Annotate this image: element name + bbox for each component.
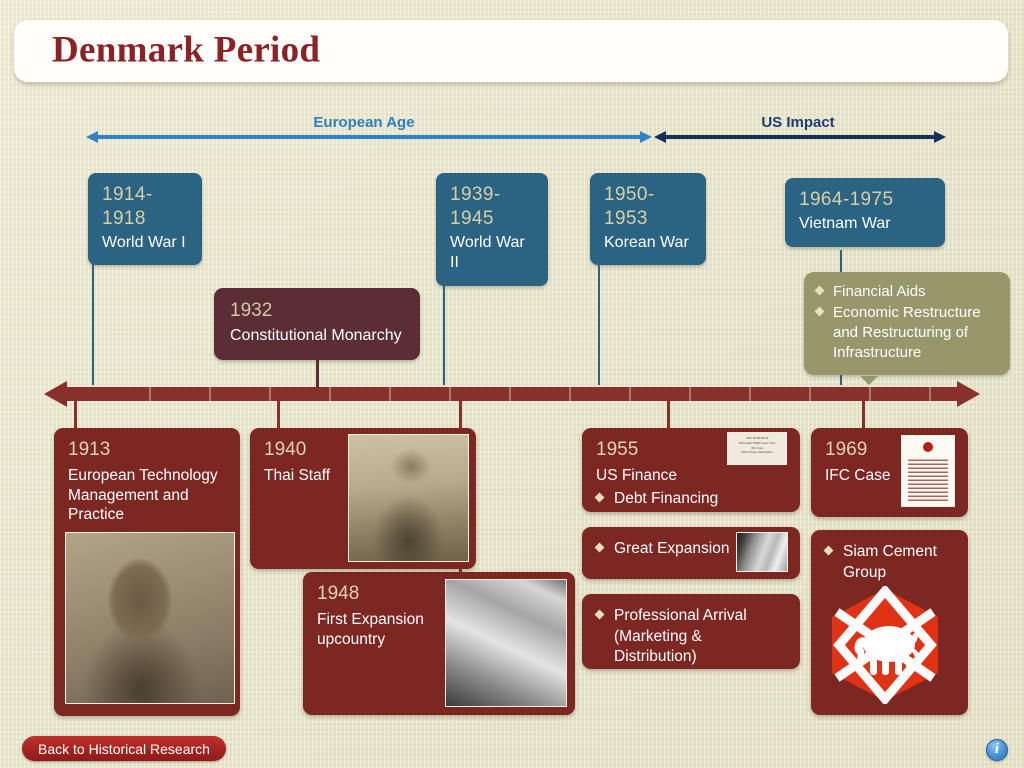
bullet-card-text-wrap: Professional Arrival (Marketing & Distri…: [596, 606, 786, 668]
connector-stem-1955: [667, 400, 670, 430]
bullet-card-siam-cement-group[interactable]: Siam Cement Group: [811, 530, 968, 715]
bullet-card-professional-arrival[interactable]: Professional Arrival (Marketing & Distri…: [582, 594, 800, 669]
info-icon[interactable]: i: [986, 739, 1008, 761]
timeline-tick: [569, 387, 571, 401]
connector-stem-world-war-i: [92, 255, 94, 385]
milestone-name: Constitutional Monarchy: [230, 326, 404, 347]
timeline-tick: [929, 387, 931, 401]
diamond-bullet-icon: [815, 286, 825, 296]
card-bullet: Debt Financing: [596, 489, 786, 509]
bullet-card-text-wrap: Siam Cement Group: [825, 542, 954, 583]
aid-box-us-impact-effects[interactable]: Financial Aids Economic Restructure and …: [804, 272, 1010, 375]
event-card-1969[interactable]: 1969 IFC Case: [811, 428, 968, 517]
photo-factory-1948: [445, 579, 567, 707]
card-name: US Finance: [596, 466, 786, 486]
connector-stem-world-war-ii: [443, 255, 445, 385]
timeline-tick: [389, 387, 391, 401]
arrow-head-right-icon: [640, 131, 652, 143]
diamond-bullet-icon: [595, 543, 605, 553]
era-label-us-impact: US Impact: [705, 114, 891, 131]
main-timeline-arrow: [44, 381, 980, 407]
milestone-box-constitutional-monarchy[interactable]: 1932 Constitutional Monarchy: [214, 288, 420, 360]
war-box-vietnam-war[interactable]: 1964-1975 Vietnam War: [785, 178, 945, 247]
diamond-bullet-icon: [824, 546, 834, 556]
connector-stem-korean-war: [598, 255, 600, 385]
arrow-head-right-icon: [957, 381, 980, 407]
timeline-tick: [809, 387, 811, 401]
diamond-bullet-icon: [595, 492, 605, 502]
photo-portrait-1913: [65, 532, 235, 704]
timeline-tick: [449, 387, 451, 401]
thumbnail-document-1969: [901, 435, 955, 507]
bullet-card-great-expansion[interactable]: Great Expansion: [582, 527, 800, 579]
page-title: Denmark Period: [52, 29, 320, 72]
finance-line: 20% Chase Manhattan: [730, 450, 784, 455]
photo-plant-aerial: [736, 532, 788, 572]
arrow-head-right-icon: [934, 131, 946, 143]
aid-item: Financial Aids: [816, 282, 998, 302]
red-seal-icon: [923, 442, 933, 452]
war-box-world-war-i[interactable]: 1914-1918 World War I: [88, 173, 202, 265]
war-name: World War I: [102, 233, 188, 254]
war-box-world-war-ii[interactable]: 1939-1945 World War II: [436, 173, 548, 286]
card-name: First Expansion upcountry: [317, 610, 457, 650]
timeline-tick: [689, 387, 691, 401]
war-years: 1914-1918: [102, 183, 188, 231]
milestone-year: 1932: [230, 299, 404, 323]
arrow-head-left-icon: [44, 381, 67, 407]
connector-stem-1940: [277, 400, 280, 430]
diamond-bullet-icon: [815, 306, 825, 316]
slide-canvas: Denmark Period European Age US Impact 19…: [0, 0, 1024, 768]
timeline-tick: [749, 387, 751, 401]
timeline-tick: [629, 387, 631, 401]
timeline-tick: [509, 387, 511, 401]
war-box-korean-war[interactable]: 1950-1953 Korean War: [590, 173, 706, 265]
event-card-1955[interactable]: 1955 US Finance Debt Financing 34% EXIM …: [582, 428, 800, 512]
event-card-1913[interactable]: 1913 European Technology Management and …: [54, 428, 240, 716]
war-years: 1950-1953: [604, 183, 692, 231]
timeline-tick: [149, 387, 151, 401]
info-icon-glyph: i: [987, 741, 1007, 758]
title-bar: Denmark Period: [14, 20, 1008, 82]
war-years: 1939-1945: [450, 183, 534, 231]
war-years: 1964-1975: [799, 188, 931, 212]
timeline-tick: [269, 387, 271, 401]
timeline-tick: [209, 387, 211, 401]
war-name: World War II: [450, 233, 534, 275]
aid-item: Economic Restructure and Restructuring o…: [816, 303, 998, 363]
back-button-label: Back to Historical Research: [38, 741, 210, 757]
timeline-tick: [869, 387, 871, 401]
back-to-historical-research-button[interactable]: Back to Historical Research: [22, 736, 226, 761]
photo-portrait-1940: [348, 434, 469, 562]
card-year: 1913: [68, 439, 226, 462]
connector-stem-1969: [862, 400, 865, 430]
era-arrow-us-impact: [654, 131, 946, 143]
war-name: Vietnam War: [799, 214, 931, 235]
event-card-1940[interactable]: 1940 Thai Staff: [250, 428, 476, 569]
era-arrow-european-age: [86, 131, 652, 143]
thumbnail-finance-list-1955: 34% EXIM Bank 26% ADF HSBC New York IFC …: [727, 432, 787, 465]
era-label-european-age: European Age: [270, 114, 458, 131]
document-text-lines: [908, 458, 948, 501]
timeline-tick: [329, 387, 331, 401]
connector-stem-1913: [74, 400, 77, 430]
war-name: Korean War: [604, 233, 692, 254]
card-name: European Technology Management and Pract…: [68, 466, 226, 525]
diamond-bullet-icon: [595, 610, 605, 620]
event-card-1948[interactable]: 1948 First Expansion upcountry: [303, 572, 575, 715]
scg-elephant-hexagon-logo: [823, 586, 947, 704]
